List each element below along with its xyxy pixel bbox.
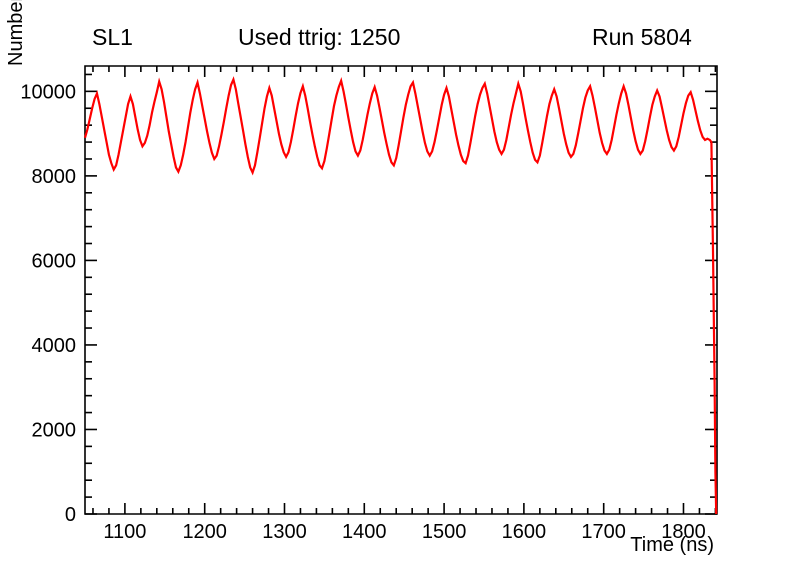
root-canvas: SL1 Used ttrig: 1250 Run 5804 1100120013…	[0, 0, 796, 572]
y-tick-label-10000: 10000	[20, 81, 76, 103]
x-axis-tick-labels: 11001200130014001500160017001800	[103, 521, 705, 543]
x-tick-label-1700: 1700	[581, 521, 626, 543]
y-tick-label-0: 0	[65, 504, 76, 526]
y-tick-label-4000: 4000	[32, 335, 77, 357]
x-tick-label-1600: 1600	[502, 521, 547, 543]
x-tick-label-1100: 1100	[103, 521, 146, 543]
y-axis-title: Number of digis	[5, 0, 27, 66]
x-tick-label-1200: 1200	[182, 521, 227, 543]
x-tick-label-1500: 1500	[422, 521, 467, 543]
data-curve-digis	[85, 80, 716, 514]
y-axis-ticks	[85, 74, 717, 514]
y-axis-tick-labels: 0200040006000800010000	[20, 81, 76, 526]
y-tick-label-2000: 2000	[32, 419, 77, 441]
y-tick-label-8000: 8000	[32, 166, 77, 188]
x-tick-label-1300: 1300	[262, 521, 307, 543]
plot-area: 11001200130014001500160017001800 0200040…	[0, 0, 796, 572]
x-tick-label-1400: 1400	[342, 521, 387, 543]
y-tick-label-6000: 6000	[32, 250, 77, 272]
x-axis-title: Time (ns)	[630, 534, 714, 556]
